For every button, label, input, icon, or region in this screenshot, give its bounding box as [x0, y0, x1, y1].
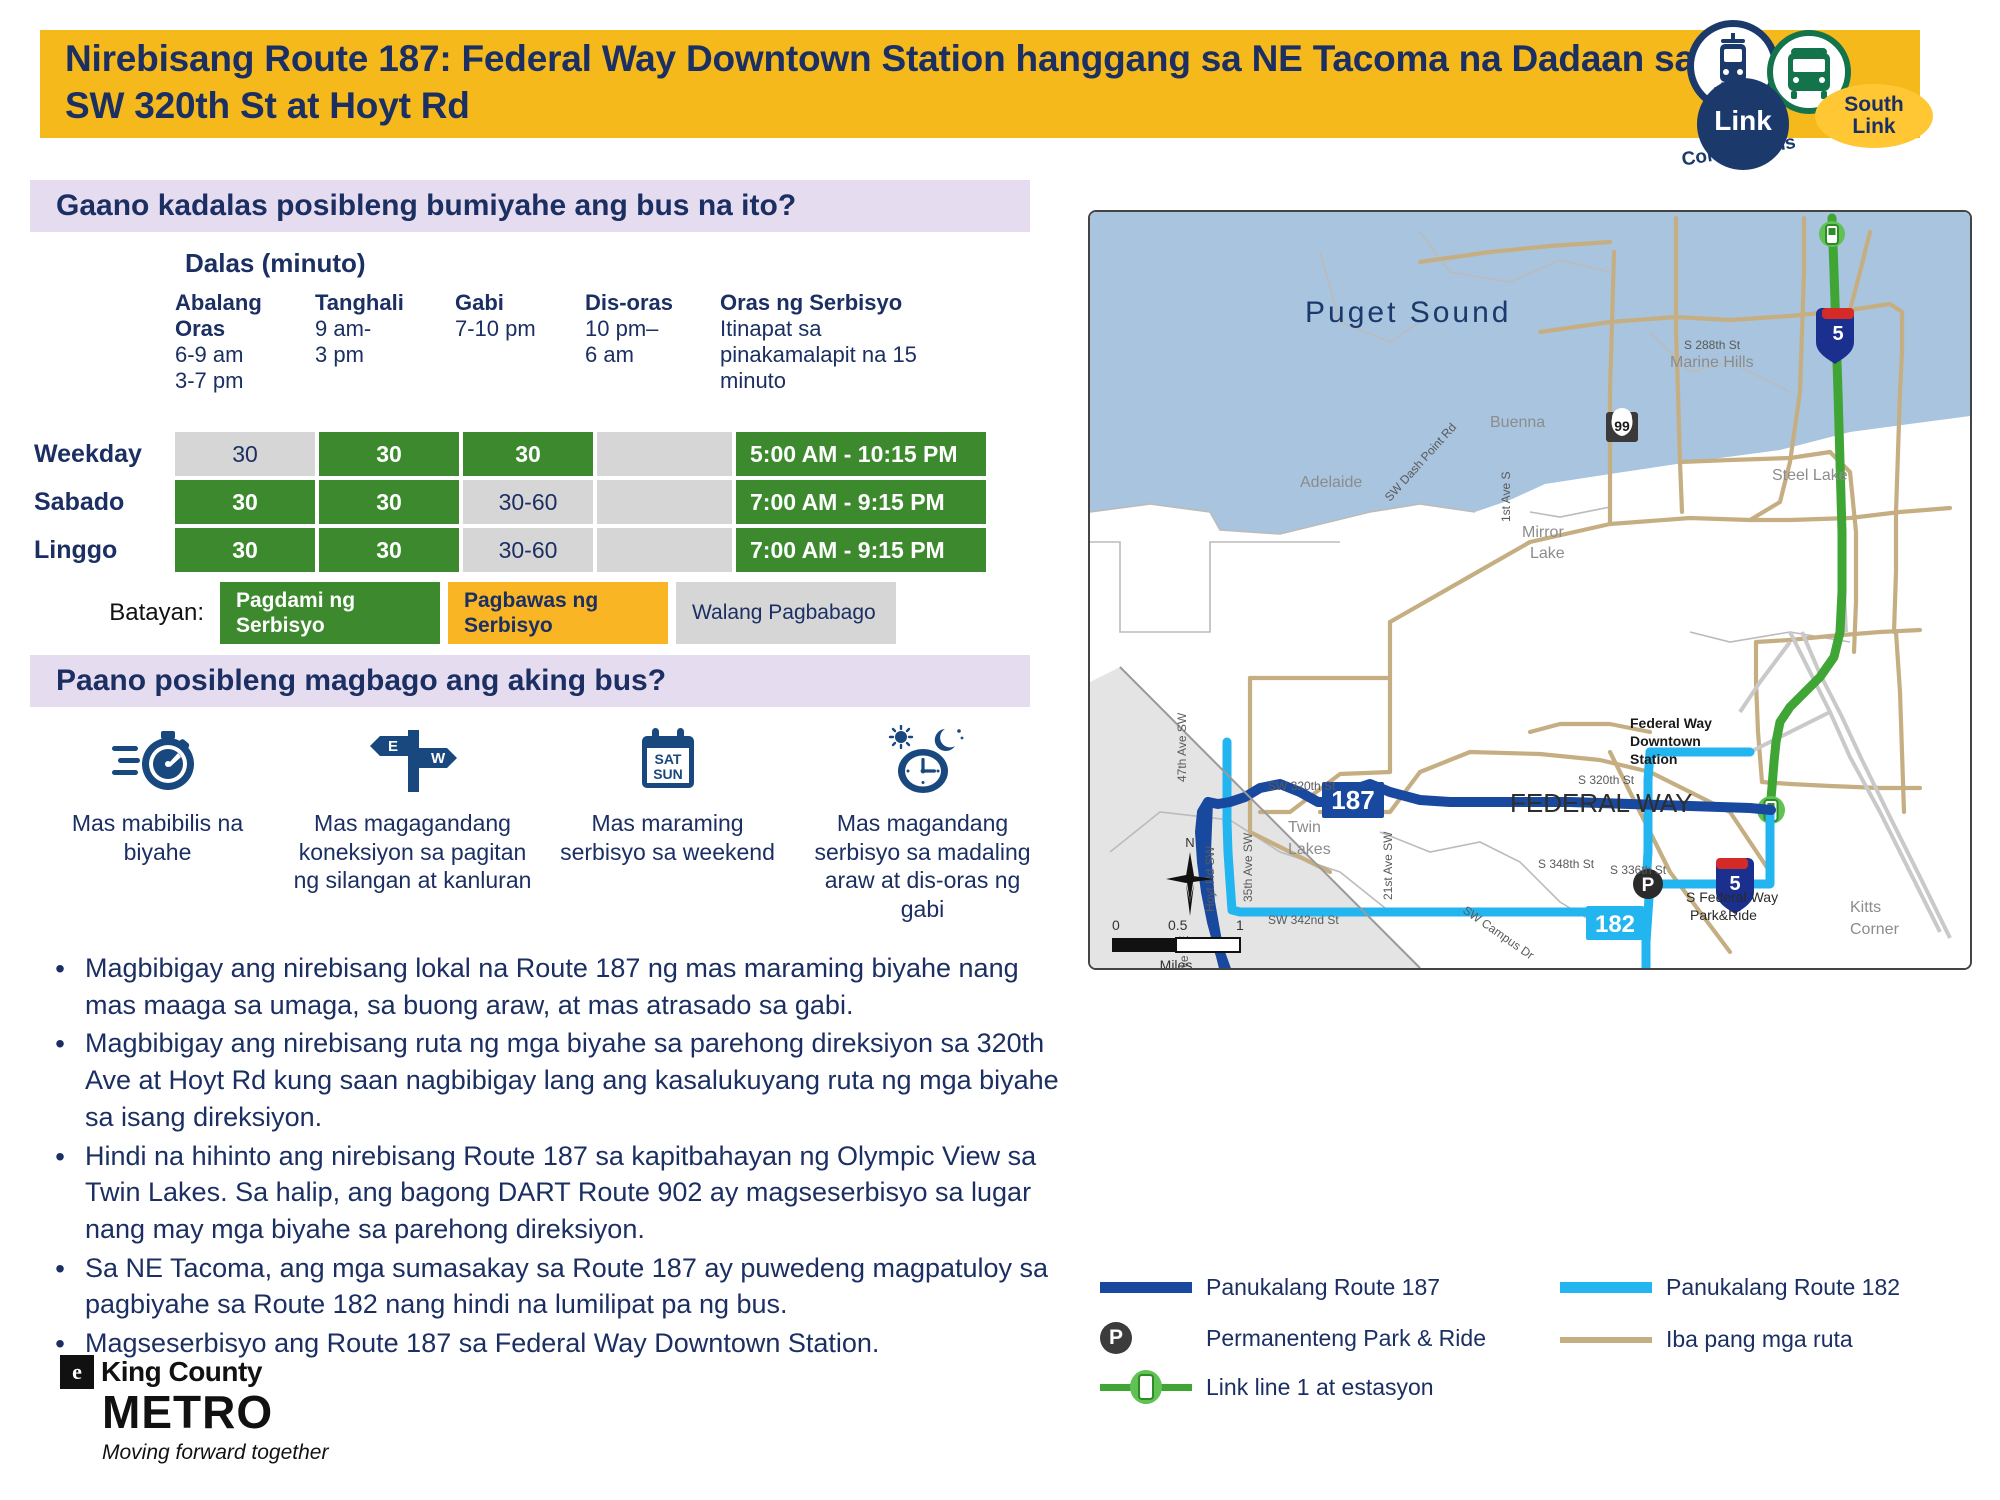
svg-text:Federal Way: Federal Way	[1630, 715, 1712, 731]
svg-text:S 288th St: S 288th St	[1684, 338, 1741, 352]
svg-text:Station: Station	[1630, 751, 1677, 767]
legend-chip: Walang Pagbabago	[676, 582, 896, 644]
link-logo-text: Link	[1697, 78, 1789, 170]
stopwatch-speed-icon	[38, 725, 277, 797]
east-west-signpost-icon: E W	[293, 725, 532, 797]
frequency-column-header: Gabi7-10 pm	[455, 290, 585, 394]
link-station-marker	[1819, 221, 1845, 247]
benefit-list: Mas mabibilis na biyahe E W Mas magagand…	[30, 725, 1050, 923]
header-row-spacer	[20, 290, 175, 394]
route-map[interactable]: 5 5 99 P 187	[1088, 210, 1972, 970]
bullet-item: •Magbibigay ang nirebisang lokal na Rout…	[35, 950, 1065, 1023]
frequency-header-row: Abalang Oras6-9 am 3-7 pmTanghali9 am- 3…	[20, 290, 1080, 394]
legend-item-route-182: Panukalang Route 182	[1560, 1274, 1900, 1301]
park-and-ride-icon: P	[1100, 1322, 1132, 1354]
svg-text:SW 320th St: SW 320th St	[1268, 779, 1336, 793]
infosheet-page: Nirebisang Route 187: Federal Way Downto…	[0, 0, 2000, 1500]
legend-label: Iba pang mga ruta	[1666, 1326, 1853, 1353]
column-subtitle: Itinapat sa pinakamalapit na 15 minuto	[720, 316, 960, 394]
bullet-text: Magbibigay ang nirebisang ruta ng mga bi…	[85, 1025, 1065, 1135]
legend-item-other-routes: Iba pang mga ruta	[1560, 1326, 1853, 1353]
frequency-table-title: Dalas (minuto)	[185, 248, 366, 279]
svg-text:Mirror: Mirror	[1522, 524, 1564, 541]
svg-text:35th Ave SW: 35th Ave SW	[1241, 832, 1255, 902]
frequency-table-header: Abalang Oras6-9 am 3-7 pmTanghali9 am- 3…	[20, 290, 1080, 394]
benefit-item-faster-trips: Mas mabibilis na biyahe	[30, 725, 285, 866]
change-bullet-list: •Magbibigay ang nirebisang lokal na Rout…	[35, 950, 1065, 1365]
day-night-clock-icon	[803, 725, 1042, 797]
svg-text:SW 342nd St: SW 342nd St	[1268, 913, 1339, 927]
svg-text:E: E	[388, 738, 398, 755]
svg-text:Lakes: Lakes	[1288, 841, 1331, 858]
frequency-cell	[597, 480, 732, 524]
bullet-text: Hindi na hihinto ang nirebisang Route 18…	[85, 1138, 1065, 1248]
frequency-cell: 5:00 AM - 10:15 PM	[736, 432, 986, 476]
changes-section-heading: Paano posibleng magbago ang aking bus?	[30, 655, 1030, 707]
map-legend: Panukalang Route 187 Panukalang Route 18…	[1100, 1270, 2000, 1400]
frequency-cell: 7:00 AM - 9:15 PM	[736, 480, 986, 524]
bullet-item: •Sa NE Tacoma, ang mga sumasakay sa Rout…	[35, 1250, 1065, 1323]
frequency-table-body: Weekday3030305:00 AM - 10:15 PMSabado303…	[20, 432, 1090, 576]
bullet-text: Magbibigay ang nirebisang lokal na Route…	[85, 950, 1065, 1023]
bullet-marker-icon: •	[35, 1250, 85, 1323]
legend-item-link-line-1: Link line 1 at estasyon	[1100, 1370, 1434, 1404]
column-title: Abalang Oras	[175, 290, 305, 342]
svg-text:Kitts: Kitts	[1850, 899, 1881, 916]
benefit-item-early-late-service: Mas magandang serbisyo sa madaling araw …	[795, 725, 1050, 923]
frequency-column-header: Abalang Oras6-9 am 3-7 pm	[175, 290, 315, 394]
weekend-calendar-icon: SAT SUN	[548, 725, 787, 797]
legend-label: Permanenteng Park & Ride	[1206, 1325, 1486, 1352]
svg-text:Marine Hills: Marine Hills	[1670, 354, 1754, 371]
bullet-marker-icon: •	[35, 1138, 85, 1248]
column-title: Dis-oras	[585, 290, 710, 316]
svg-text:21st Ave SW: 21st Ave SW	[1381, 831, 1395, 900]
page-title: Nirebisang Route 187: Federal Way Downto…	[65, 36, 1705, 129]
column-title: Gabi	[455, 290, 575, 316]
bullet-marker-icon: •	[35, 1025, 85, 1135]
svg-text:SUN: SUN	[653, 766, 683, 782]
column-subtitle: 6-9 am 3-7 pm	[175, 342, 305, 394]
svg-text:187: 187	[1331, 785, 1374, 815]
south-link-top: South	[1844, 94, 1903, 116]
svg-text:P: P	[1642, 875, 1655, 896]
frequency-cell: 30	[463, 432, 593, 476]
frequency-heading-text: Gaano kadalas posibleng bumiyahe ang bus…	[56, 189, 796, 223]
benefit-item-east-west-connections: E W Mas magagandang koneksiyon sa pagita…	[285, 725, 540, 895]
column-subtitle: 9 am- 3 pm	[315, 316, 445, 368]
bullet-marker-icon: •	[35, 950, 85, 1023]
frequency-cell	[597, 432, 732, 476]
city-label: FEDERAL WAY	[1510, 788, 1693, 818]
frequency-cell: 30	[319, 528, 459, 572]
legend-item-route-187: Panukalang Route 187	[1100, 1274, 1440, 1301]
row-label: Weekday	[20, 432, 175, 476]
frequency-cell: 30	[175, 480, 315, 524]
frequency-cell: 30	[175, 528, 315, 572]
route-187-swatch-icon	[1100, 1282, 1192, 1293]
bullet-item: •Magbibigay ang nirebisang ruta ng mga b…	[35, 1025, 1065, 1135]
svg-text:182: 182	[1595, 911, 1635, 938]
svg-text:W: W	[431, 750, 446, 767]
route-badge-182: 182	[1586, 906, 1644, 940]
frequency-cell: 30-60	[463, 528, 593, 572]
legend-item-park-and-ride: P Permanenteng Park & Ride	[1100, 1322, 1486, 1354]
king-county-text: King County	[101, 1356, 262, 1388]
row-label: Sabado	[20, 480, 175, 524]
frequency-cell	[597, 528, 732, 572]
legend-chip-group: Pagdami ng SerbisyoPagbawas ng SerbisyoW…	[220, 582, 904, 644]
route-182-swatch-icon	[1560, 1282, 1652, 1293]
svg-text:SAT: SAT	[654, 751, 681, 767]
legend-label: Panukalang Route 182	[1666, 1274, 1900, 1301]
svg-text:Buenna: Buenna	[1490, 414, 1545, 431]
frequency-column-header: Dis-oras10 pm– 6 am	[585, 290, 720, 394]
south-link-badge: South Link	[1815, 84, 1933, 148]
svg-text:Lake: Lake	[1530, 545, 1565, 562]
column-subtitle: 10 pm– 6 am	[585, 316, 710, 368]
svg-text:Adelaide: Adelaide	[1300, 474, 1362, 491]
frequency-cell: 7:00 AM - 9:15 PM	[736, 528, 986, 572]
changes-heading-text: Paano posibleng magbago ang aking bus?	[56, 664, 666, 698]
frequency-table-row: Weekday3030305:00 AM - 10:15 PM	[20, 432, 1090, 476]
frequency-section-heading: Gaano kadalas posibleng bumiyahe ang bus…	[30, 180, 1030, 232]
svg-text:1: 1	[1236, 917, 1244, 933]
frequency-table-row: Sabado303030-607:00 AM - 9:15 PM	[20, 480, 1090, 524]
svg-text:99: 99	[1614, 418, 1630, 434]
bullet-text: Sa NE Tacoma, ang mga sumasakay sa Route…	[85, 1250, 1065, 1323]
king-county-mark-icon: e	[60, 1355, 94, 1389]
frequency-cell: 30	[319, 432, 459, 476]
svg-text:47th Ave SW: 47th Ave SW	[1175, 712, 1189, 782]
king-county-metro-logo: e King County METRO Moving forward toget…	[60, 1355, 420, 1465]
kcm-top-row: e King County	[60, 1355, 420, 1389]
benefit-label: Mas mabibilis na biyahe	[38, 809, 277, 866]
legend-label: Panukalang Route 187	[1206, 1274, 1440, 1301]
legend-chip: Pagbawas ng Serbisyo	[448, 582, 668, 644]
agency-tagline: Moving forward together	[102, 1441, 420, 1465]
svg-text:0: 0	[1112, 917, 1120, 933]
svg-text:Park&Ride: Park&Ride	[1690, 907, 1757, 923]
link-connections-logo: Link Connections South Link	[1675, 12, 1945, 162]
legend-label: Link line 1 at estasyon	[1206, 1374, 1434, 1401]
svg-text:0.5: 0.5	[1168, 917, 1188, 933]
svg-text:S 336th St: S 336th St	[1610, 863, 1667, 877]
frequency-column-header: Oras ng SerbisyoItinapat sa pinakamalapi…	[720, 290, 970, 394]
frequency-cell: 30	[319, 480, 459, 524]
svg-text:Steel Lake: Steel Lake	[1772, 467, 1848, 484]
svg-text:5: 5	[1832, 323, 1843, 345]
other-routes-swatch-icon	[1560, 1337, 1652, 1343]
svg-text:Corner: Corner	[1850, 921, 1900, 938]
svg-text:1st Ave S: 1st Ave S	[1499, 472, 1513, 522]
frequency-cell: 30	[175, 432, 315, 476]
svg-text:Twin: Twin	[1288, 819, 1321, 836]
frequency-table-row: Linggo303030-607:00 AM - 9:15 PM	[20, 528, 1090, 572]
svg-text:S 320th St: S 320th St	[1578, 773, 1635, 787]
svg-text:N: N	[1185, 835, 1194, 850]
water-label: Puget Sound	[1305, 296, 1511, 329]
benefit-label: Mas magagandang koneksiyon sa pagitan ng…	[293, 809, 532, 895]
svg-text:Miles: Miles	[1160, 957, 1193, 968]
bullet-item: •Hindi na hihinto ang nirebisang Route 1…	[35, 1138, 1065, 1248]
column-subtitle: 7-10 pm	[455, 316, 575, 342]
column-title: Tanghali	[315, 290, 445, 316]
state-route-99-shield: 99	[1606, 408, 1638, 442]
frequency-column-header: Tanghali9 am- 3 pm	[315, 290, 455, 394]
frequency-legend: Batayan: Pagdami ng SerbisyoPagbawas ng …	[20, 582, 1090, 644]
legend-label: Batayan:	[20, 599, 220, 627]
benefit-label: Mas maraming serbisyo sa weekend	[548, 809, 787, 866]
svg-text:Downtown: Downtown	[1630, 733, 1701, 749]
metro-wordmark: METRO	[102, 1385, 420, 1439]
legend-chip: Pagdami ng Serbisyo	[220, 582, 440, 644]
south-link-bottom: Link	[1852, 116, 1895, 138]
svg-text:S 348th St: S 348th St	[1538, 857, 1595, 871]
frequency-cell: 30-60	[463, 480, 593, 524]
benefit-label: Mas magandang serbisyo sa madaling araw …	[803, 809, 1042, 923]
row-label: Linggo	[20, 528, 175, 572]
column-title: Oras ng Serbisyo	[720, 290, 960, 316]
benefit-item-weekend-service: SAT SUN Mas maraming serbisyo sa weekend	[540, 725, 795, 866]
svg-text:S Federal Way: S Federal Way	[1686, 889, 1778, 905]
link-station-icon	[1100, 1370, 1192, 1404]
